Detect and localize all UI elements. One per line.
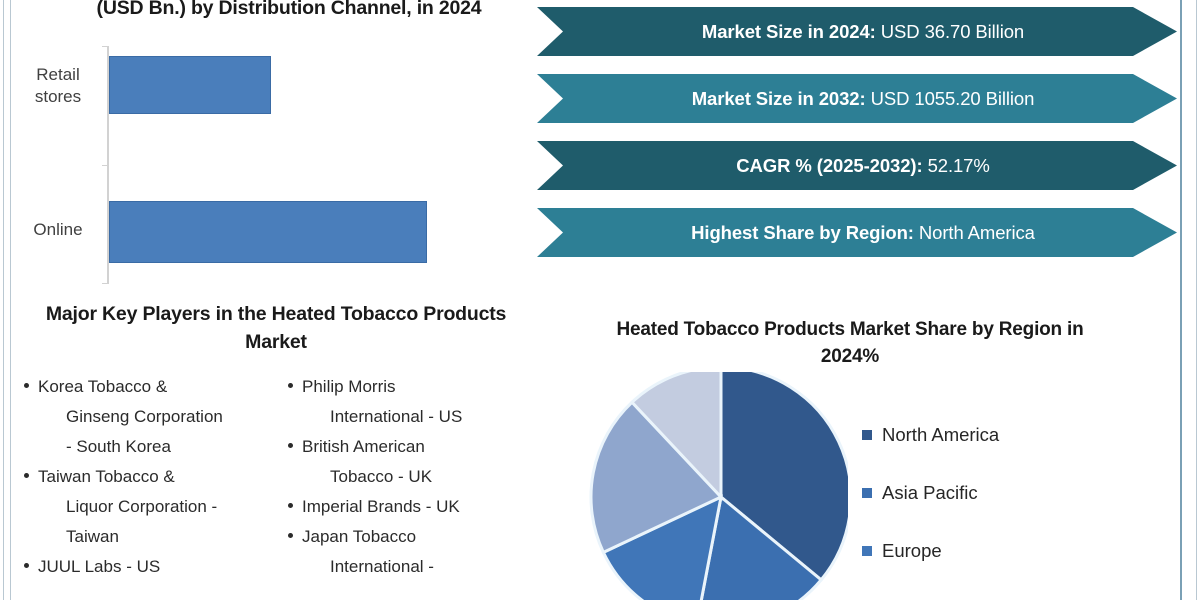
bar-retail-stores [109, 56, 271, 114]
banner-1: Market Size in 2024: USD 36.70 Billion [537, 7, 1177, 56]
bullet-icon [24, 563, 29, 568]
banner-label: Market Size in 2032: [692, 88, 866, 109]
banner-label: Market Size in 2024: [702, 21, 876, 42]
key-player-line: British American [302, 432, 534, 462]
legend-item: North America [862, 406, 1162, 464]
key-player-line: Philip Morris [302, 372, 534, 402]
bar-row: Retail stores [14, 56, 526, 116]
legend-item: Europe [862, 522, 1162, 580]
pie-chart-graphic [558, 372, 848, 600]
key-player-line: Korea Tobacco & [38, 372, 272, 402]
key-player-item: British AmericanTobacco - UK [286, 432, 534, 492]
key-player-line: Ginseng Corporation [38, 402, 272, 432]
legend-label: Asia Pacific [882, 482, 978, 504]
key-player-line: Taiwan Tobacco & [38, 462, 272, 492]
banner-label: Highest Share by Region: [691, 222, 914, 243]
bullet-icon [24, 473, 29, 478]
banner-value: 52.17% [923, 155, 990, 176]
key-player-item: Taiwan Tobacco &Liquor Corporation -Taiw… [22, 462, 272, 552]
key-player-item: Philip MorrisInternational - US [286, 372, 534, 432]
key-player-line: - South Korea [38, 432, 272, 462]
key-players-column-left: Korea Tobacco &Ginseng Corporation- Sout… [22, 372, 272, 582]
legend-label: North America [882, 424, 999, 446]
banner-label: CAGR % (2025-2032): [736, 155, 922, 176]
bullet-icon [288, 383, 293, 388]
key-player-item: JUUL Labs - US [22, 552, 272, 582]
bar-chart-title: (USD Bn.) by Distribution Channel, in 20… [74, 0, 504, 21]
legend-swatch-icon [862, 488, 872, 498]
bar-row: Online [14, 201, 526, 261]
market-highlight-banners: Market Size in 2024: USD 36.70 BillionMa… [537, 0, 1183, 278]
banner-4: Highest Share by Region: North America [537, 208, 1177, 257]
distribution-channel-bar-chart: (USD Bn.) by Distribution Channel, in 20… [14, 0, 526, 290]
bullet-icon [24, 383, 29, 388]
banner-text: Market Size in 2032: USD 1055.20 Billion [680, 88, 1035, 110]
bullet-icon [288, 503, 293, 508]
banner-3: CAGR % (2025-2032): 52.17% [537, 141, 1177, 190]
legend-swatch-icon [862, 430, 872, 440]
bar-chart-plot-area: Retail stores Online [14, 46, 526, 286]
bar-online [109, 201, 427, 263]
key-players-column-right: Philip MorrisInternational - USBritish A… [286, 372, 534, 582]
key-player-line: Taiwan [38, 522, 272, 552]
bar-category-label-retail-stores: Retail stores [12, 64, 104, 108]
legend-item: Asia Pacific [862, 464, 1162, 522]
banner-2: Market Size in 2032: USD 1055.20 Billion [537, 74, 1177, 123]
frame-border-right-outer [1196, 0, 1197, 600]
key-player-line: International - US [302, 402, 534, 432]
key-player-line: Japan Tobacco [302, 522, 534, 552]
legend-label: Europe [882, 540, 942, 562]
legend-item: Middle East and Africa [862, 580, 1162, 600]
key-player-line: Liquor Corporation - [38, 492, 272, 522]
key-players-section: Major Key Players in the Heated Tobacco … [14, 294, 534, 600]
key-players-title: Major Key Players in the Heated Tobacco … [28, 300, 524, 356]
bar-category-label-online: Online [12, 219, 104, 241]
bar-axis-tick [102, 165, 107, 166]
key-player-line: International - [302, 552, 534, 582]
regional-share-pie-section: Heated Tobacco Products Market Share by … [520, 310, 1180, 600]
key-player-line: Tobacco - UK [302, 462, 534, 492]
pie-chart-legend: North AmericaAsia PacificEuropeMiddle Ea… [862, 406, 1162, 600]
banner-value: USD 1055.20 Billion [866, 88, 1035, 109]
banner-text: CAGR % (2025-2032): 52.17% [724, 155, 989, 177]
frame-border-left-outer [3, 0, 4, 600]
key-player-line: JUUL Labs - US [38, 552, 272, 582]
legend-swatch-icon [862, 546, 872, 556]
key-player-line: Imperial Brands - UK [302, 492, 534, 522]
bullet-icon [288, 443, 293, 448]
key-player-item: Imperial Brands - UK [286, 492, 534, 522]
pie-chart-title: Heated Tobacco Products Market Share by … [590, 316, 1110, 370]
key-player-item: Japan TobaccoInternational - [286, 522, 534, 582]
key-player-item: Korea Tobacco &Ginseng Corporation- Sout… [22, 372, 272, 462]
banner-text: Highest Share by Region: North America [679, 222, 1035, 244]
frame-border-left-inner [10, 0, 11, 600]
banner-value: USD 36.70 Billion [876, 21, 1024, 42]
banner-value: North America [914, 222, 1035, 243]
banner-text: Market Size in 2024: USD 36.70 Billion [690, 21, 1024, 43]
infographic-page: (USD Bn.) by Distribution Channel, in 20… [0, 0, 1200, 600]
bullet-icon [288, 533, 293, 538]
bar-axis-tick [102, 46, 107, 47]
bar-axis-tick [102, 283, 107, 284]
